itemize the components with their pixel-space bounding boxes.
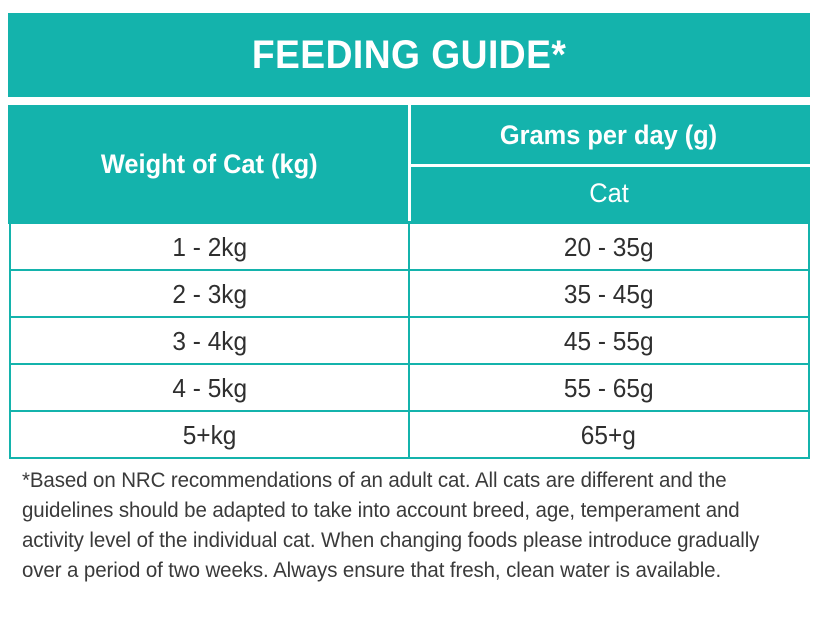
header-cell-grams: Grams per day (g)	[409, 107, 809, 166]
table-row: 1 - 2kg 20 - 35g	[10, 223, 809, 271]
cell-grams: 55 - 65g	[409, 364, 809, 411]
header-cell-animal: Cat	[409, 166, 809, 223]
cell-weight-value: 5+kg	[182, 422, 236, 448]
cell-grams: 65+g	[409, 411, 809, 458]
cell-weight-value: 2 - 3kg	[172, 281, 247, 307]
header-cell-weight: Weight of Cat (kg)	[10, 107, 410, 223]
cell-grams-value: 45 - 55g	[564, 328, 654, 354]
cell-grams-value: 20 - 35g	[564, 234, 654, 260]
table-row: 5+kg 65+g	[10, 411, 809, 458]
table-header-row: Weight of Cat (kg) Grams per day (g)	[10, 107, 809, 166]
cell-grams: 20 - 35g	[409, 223, 809, 271]
table-row: 2 - 3kg 35 - 45g	[10, 270, 809, 317]
cell-weight-value: 1 - 2kg	[172, 234, 247, 260]
cell-grams-value: 65+g	[581, 422, 636, 448]
cell-weight: 3 - 4kg	[10, 317, 410, 364]
cell-grams-value: 35 - 45g	[564, 281, 654, 307]
header-label-grams: Grams per day (g)	[500, 121, 717, 151]
cell-weight: 2 - 3kg	[10, 270, 410, 317]
feeding-guide-banner: FEEDING GUIDE*	[8, 13, 810, 97]
table-row: 3 - 4kg 45 - 55g	[10, 317, 809, 364]
cell-grams-value: 55 - 65g	[564, 375, 654, 401]
cell-weight-value: 3 - 4kg	[172, 328, 247, 354]
cell-weight: 1 - 2kg	[10, 223, 410, 271]
footnote: *Based on NRC recommendations of an adul…	[22, 466, 800, 586]
feeding-guide-table: Weight of Cat (kg) Grams per day (g) Cat…	[8, 105, 810, 459]
cell-weight: 5+kg	[10, 411, 410, 458]
cell-weight-value: 4 - 5kg	[172, 375, 247, 401]
table-row: 4 - 5kg 55 - 65g	[10, 364, 809, 411]
header-label-weight: Weight of Cat (kg)	[101, 150, 318, 180]
header-label-animal: Cat	[589, 179, 629, 209]
page-title: FEEDING GUIDE*	[252, 35, 566, 75]
cell-grams: 35 - 45g	[409, 270, 809, 317]
footnote-text: *Based on NRC recommendations of an adul…	[22, 466, 781, 586]
cell-weight: 4 - 5kg	[10, 364, 410, 411]
feeding-guide-page: FEEDING GUIDE* Weight of Cat (kg) Grams …	[0, 0, 818, 640]
cell-grams: 45 - 55g	[409, 317, 809, 364]
